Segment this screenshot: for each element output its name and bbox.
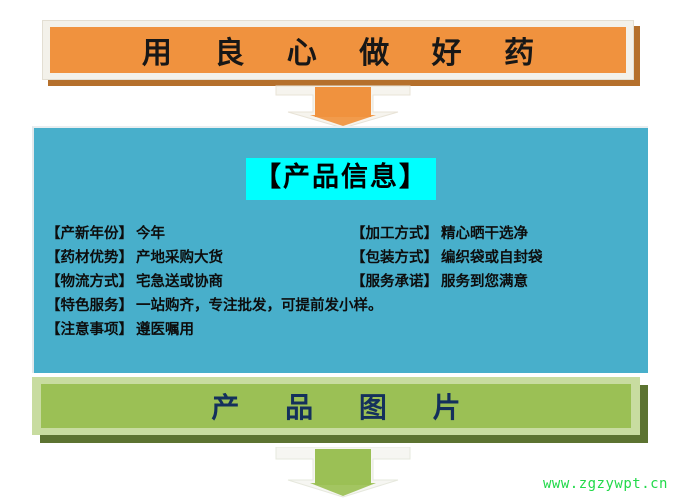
info-value: 一站购齐，专注批发，可提前发小样。 bbox=[133, 294, 383, 315]
info-key: 【物流方式】 bbox=[46, 270, 133, 291]
info-value: 服务到您满意 bbox=[438, 270, 528, 291]
info-key: 【药材优势】 bbox=[46, 246, 133, 267]
product-info-title-wrap: 【产品信息】 bbox=[34, 158, 648, 200]
info-cell-left: 【注意事项】 遵医嘱用 bbox=[46, 318, 650, 339]
info-row: 【产新年份】 今年 【加工方式】 精心晒干选净 bbox=[46, 222, 650, 244]
arrow-down-green-icon bbox=[268, 447, 418, 500]
info-value: 遵医嘱用 bbox=[133, 318, 194, 339]
info-value: 精心晒干选净 bbox=[438, 222, 528, 243]
info-value: 今年 bbox=[133, 222, 165, 243]
product-info-infographic: 用 良 心 做 好 药 【产品信息】 【产新年份】 今年 【加工方式】 精心晒干… bbox=[0, 0, 680, 500]
product-image-banner: 产 品 图 片 bbox=[32, 377, 648, 445]
info-key: 【特色服务】 bbox=[46, 294, 133, 315]
product-info-panel: 【产品信息】 【产新年份】 今年 【加工方式】 精心晒干选净 【药材优势】 产地… bbox=[32, 126, 648, 373]
info-key: 【注意事项】 bbox=[46, 318, 133, 339]
header-banner: 用 良 心 做 好 药 bbox=[42, 20, 640, 86]
info-value: 编织袋或自封袋 bbox=[438, 246, 543, 267]
info-row: 【注意事项】 遵医嘱用 bbox=[46, 318, 650, 340]
info-row: 【药材优势】 产地采购大货 【包装方式】 编织袋或自封袋 bbox=[46, 246, 650, 268]
info-key: 【加工方式】 bbox=[351, 222, 438, 243]
info-cell-left: 【产新年份】 今年 bbox=[46, 222, 351, 243]
info-value: 产地采购大货 bbox=[133, 246, 223, 267]
info-cell-right: 【包装方式】 编织袋或自封袋 bbox=[351, 246, 650, 267]
header-banner-text: 用 良 心 做 好 药 bbox=[42, 20, 634, 80]
info-value: 宅急送或协商 bbox=[133, 270, 223, 291]
info-cell-right: 【加工方式】 精心晒干选净 bbox=[351, 222, 650, 243]
info-key: 【服务承诺】 bbox=[351, 270, 438, 291]
arrow-down-orange-icon bbox=[268, 82, 418, 130]
watermark-url: www.zgzywpt.cn bbox=[543, 476, 668, 492]
info-row: 【物流方式】 宅急送或协商 【服务承诺】 服务到您满意 bbox=[46, 270, 650, 292]
info-key: 【包装方式】 bbox=[351, 246, 438, 267]
product-info-rows: 【产新年份】 今年 【加工方式】 精心晒干选净 【药材优势】 产地采购大货 【包… bbox=[46, 222, 650, 342]
info-key: 【产新年份】 bbox=[46, 222, 133, 243]
info-cell-left: 【特色服务】 一站购齐，专注批发，可提前发小样。 bbox=[46, 294, 650, 315]
image-banner-text: 产 品 图 片 bbox=[32, 377, 640, 435]
info-cell-left: 【物流方式】 宅急送或协商 bbox=[46, 270, 351, 291]
info-row: 【特色服务】 一站购齐，专注批发，可提前发小样。 bbox=[46, 294, 650, 316]
info-cell-right: 【服务承诺】 服务到您满意 bbox=[351, 270, 650, 291]
info-cell-left: 【药材优势】 产地采购大货 bbox=[46, 246, 351, 267]
product-info-title: 【产品信息】 bbox=[246, 158, 436, 200]
